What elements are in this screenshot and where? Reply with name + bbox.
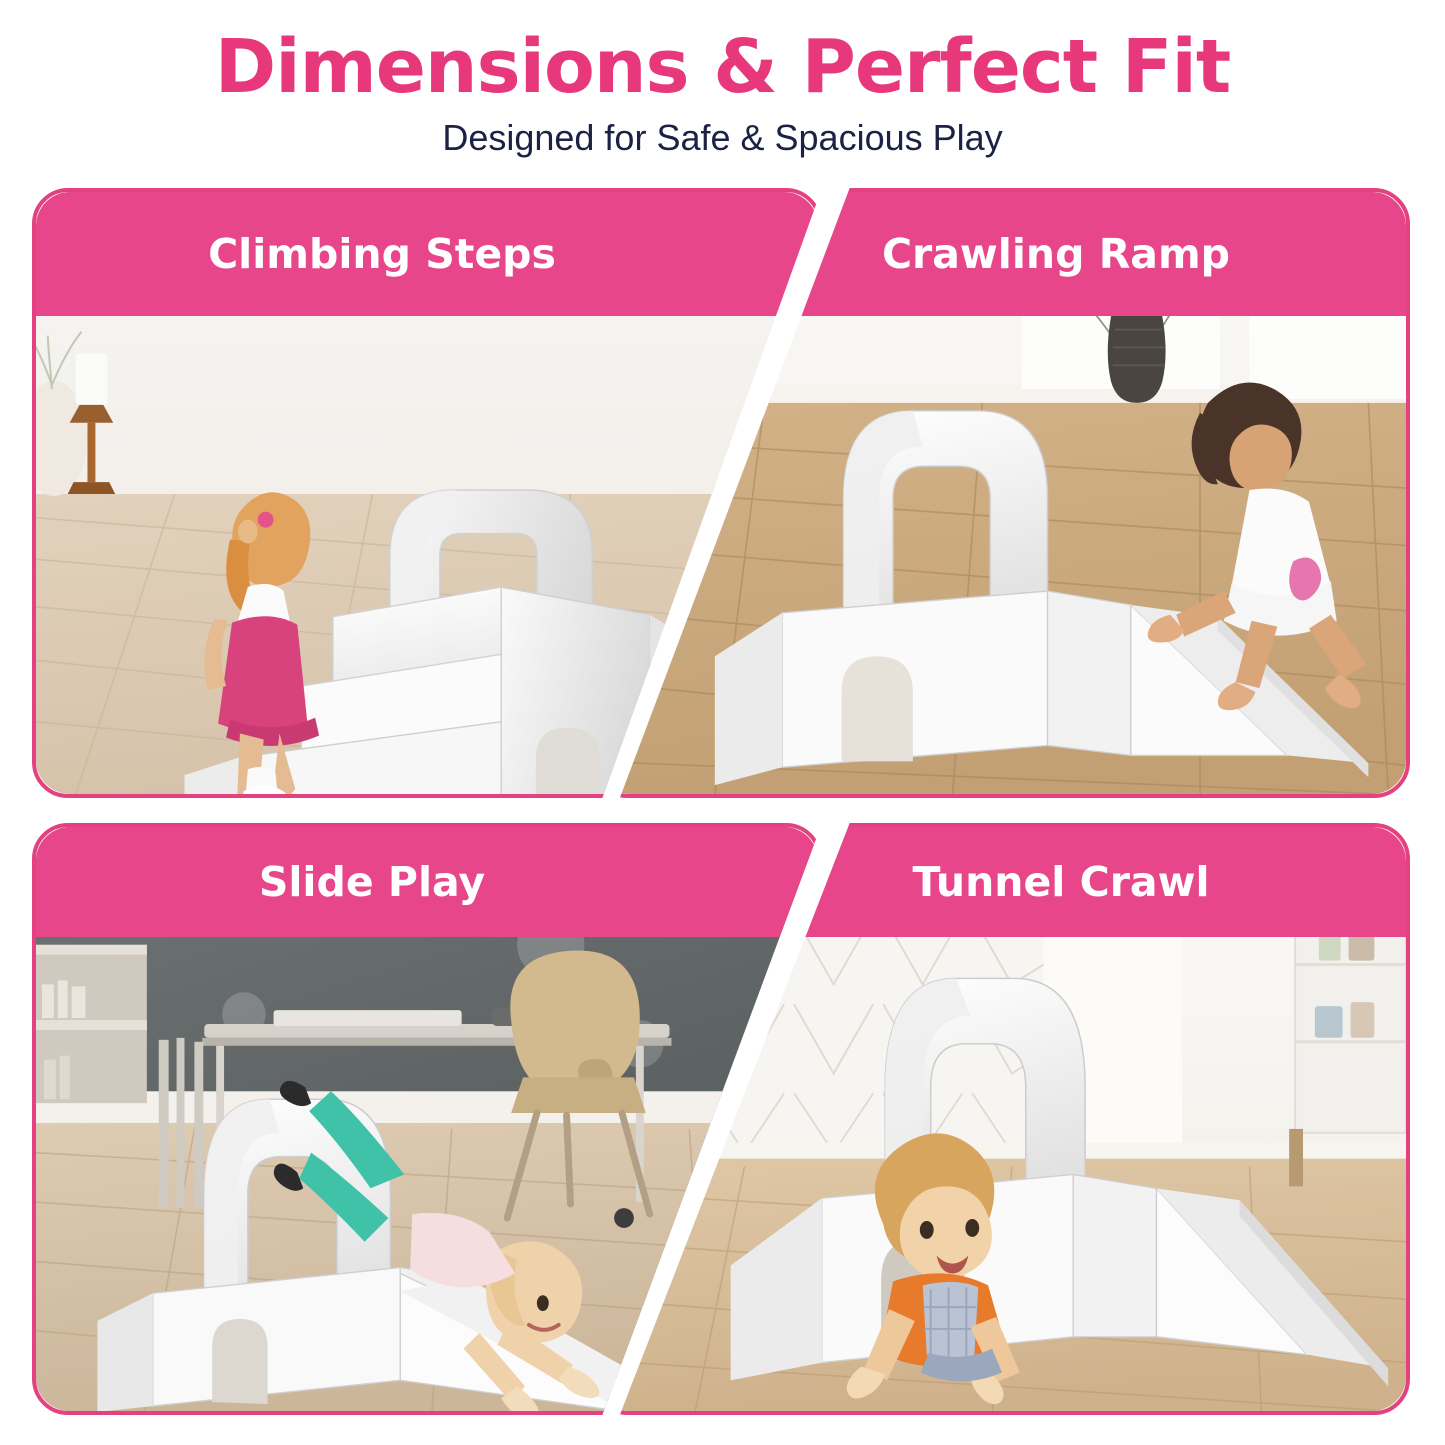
card-banner: Climbing Steps [36,192,818,316]
card-label: Climbing Steps [36,230,818,278]
page-title: Dimensions & Perfect Fit [0,0,1445,104]
feature-card-grid: Climbing Steps [0,178,1445,1433]
card-label: Slide Play [36,858,818,906]
page-header: Dimensions & Perfect Fit Designed for Sa… [0,0,1445,180]
page-subtitle: Designed for Safe & Spacious Play [0,104,1445,158]
card-banner: Slide Play [36,827,818,937]
